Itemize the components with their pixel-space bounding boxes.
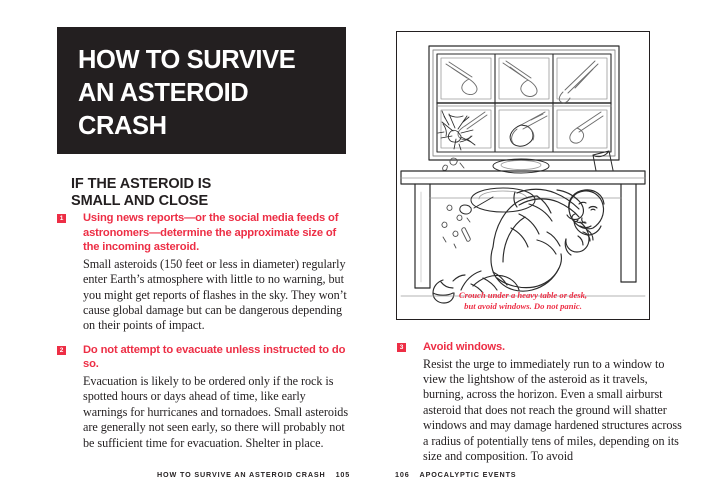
step-body: Small asteroids (150 feet or less in dia… [83,257,349,334]
chapter-title-line-1: HOW TO SURVIVE [78,44,326,77]
steps-list-left: 1 Using news reports—or the social media… [57,211,349,460]
step-heading: Using news reports—or the social media f… [83,211,349,255]
chapter-title-block: HOW TO SURVIVE AN ASTEROID CRASH [57,27,346,154]
illustration-frame [396,31,650,320]
running-head-right: APOCALYPTIC EVENTS [420,470,517,479]
left-page: HOW TO SURVIVE AN ASTEROID CRASH IF THE … [0,0,358,500]
section-subheading: IF THE ASTEROID IS SMALL AND CLOSE [71,176,351,210]
chapter-title-line-2: AN ASTEROID [78,77,326,110]
running-head-left: HOW TO SURVIVE AN ASTEROID CRASH [157,470,326,479]
section-subheading-line-1: IF THE ASTEROID IS [71,176,351,193]
step-item: 2 Do not attempt to evacuate unless inst… [57,343,349,451]
step-heading: Do not attempt to evacuate unless instru… [83,343,349,372]
chapter-title-line-3: CRASH [78,110,326,143]
step-body: Evacuation is likely to be ordered only … [83,374,349,451]
illustration-caption-line-1: Crouch under a heavy table or desk, [406,290,640,301]
step-number-badge: 2 [57,346,66,355]
footer-right: 106APOCALYPTIC EVENTS [395,470,516,479]
step-number-badge: 3 [397,343,406,352]
step-item: 1 Using news reports—or the social media… [57,211,349,334]
footer-left: HOW TO SURVIVE AN ASTEROID CRASH105 [157,470,350,479]
page-number-left: 105 [336,470,351,479]
book-spread: HOW TO SURVIVE AN ASTEROID CRASH IF THE … [0,0,716,500]
step-body: Resist the urge to immediately run to a … [423,357,689,465]
step-number-badge: 1 [57,214,66,223]
section-subheading-line-2: SMALL AND CLOSE [71,193,351,210]
page-number-right: 106 [395,470,410,479]
right-page: Crouch under a heavy table or desk, but … [358,0,716,500]
step-heading: Avoid windows. [423,340,689,355]
asteroid-crash-illustration [397,32,649,319]
steps-list-right: 3 Avoid windows. Resist the urge to imme… [397,340,689,473]
illustration-caption: Crouch under a heavy table or desk, but … [406,290,640,312]
illustration-caption-line-2: but avoid windows. Do not panic. [406,301,640,312]
step-item: 3 Avoid windows. Resist the urge to imme… [397,340,689,464]
